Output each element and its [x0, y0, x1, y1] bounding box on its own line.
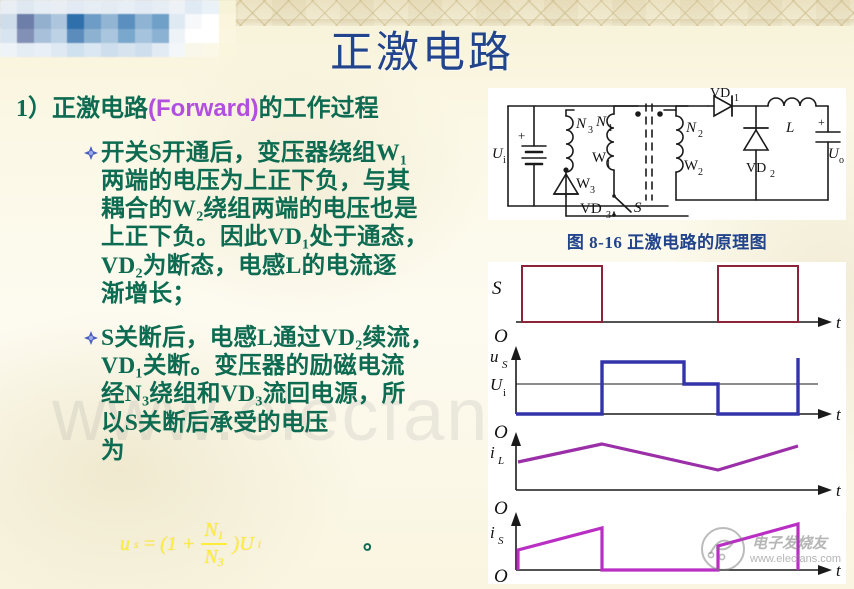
heading-part-3: 的工作过程: [259, 96, 379, 122]
page-title: 正激电路: [330, 18, 514, 80]
formula-close: )U: [233, 533, 254, 556]
label-w3-sub: 3: [590, 185, 595, 196]
mosaic-tile: [185, 43, 202, 57]
label-vd2-sub: 2: [770, 169, 775, 180]
mosaic-tile: [51, 0, 68, 14]
waveform-il-origin: O: [494, 498, 508, 519]
mosaic-tile: [67, 43, 84, 57]
formula-equals: =: [143, 533, 157, 556]
waveform-s-label: S: [492, 278, 502, 299]
mosaic-tile: [101, 0, 118, 14]
body-text-column: 1）正激电路(Forward)的工作过程 开关S开通后，变压器绕组W₁ 两端的电…: [16, 96, 486, 465]
label-vd1-sub: 1: [734, 93, 739, 104]
mosaic-tile: [84, 43, 101, 57]
mosaic-tile: [34, 0, 51, 14]
mosaic-tile: [17, 43, 34, 57]
label-n1: N: [595, 114, 607, 130]
formula-lhs: u: [120, 533, 130, 556]
mosaic-tile: [152, 43, 169, 57]
bullet-2-line-1: S关断后，电感L通过VD₂续流，: [101, 324, 434, 352]
mosaic-tile: [34, 29, 51, 43]
mosaic-tile: [67, 14, 84, 28]
label-output-plus: +: [818, 115, 825, 129]
waveform-il-label: i: [490, 443, 495, 462]
waveform-is: i S O t: [490, 512, 842, 584]
bullet-1-text: 开关S开通后，变压器绕组W₁ 两端的电压为上正下负，与其 耦合的W₂绕组两端的电…: [101, 139, 429, 308]
waveform-us-xlabel: t: [836, 405, 842, 424]
label-inductor-l: L: [785, 120, 794, 136]
mosaic-tile: [135, 29, 152, 43]
bullet-1-line-2: 两端的电压为上正下负，与其: [101, 167, 429, 195]
mosaic-tile: [219, 14, 236, 28]
formula-close-sub: i: [258, 537, 261, 552]
bullet-1-line-5: VD₂为断态，电感L的电流逐: [101, 252, 429, 280]
mosaic-tile: [84, 14, 101, 28]
mosaic-tile: [185, 14, 202, 28]
mosaic-tile: [219, 0, 236, 14]
heading-part-1: 1）正激电路: [16, 96, 148, 122]
bullet-1-line-3: 耦合的W₂绕组两端的电压也是: [101, 195, 429, 223]
waveform-us: u S U i O t: [490, 346, 842, 443]
mosaic-tile: [67, 29, 84, 43]
label-switch-s: S: [634, 200, 642, 216]
label-n3: N: [575, 116, 587, 132]
mosaic-tile: [135, 0, 152, 14]
waveform-s-origin: O: [494, 326, 508, 347]
label-w2-sub: 2: [698, 167, 703, 178]
mosaic-tile: [169, 0, 186, 14]
waveform-is-origin: O: [494, 566, 508, 584]
label-w2: W: [684, 158, 699, 174]
mosaic-tile: [101, 14, 118, 28]
mosaic-tile: [67, 0, 84, 14]
waveform-us-sub: S: [502, 359, 508, 371]
mosaic-tile: [169, 14, 186, 28]
mosaic-tile: [135, 14, 152, 28]
formula-fraction: N1 N3: [201, 520, 226, 568]
label-input-plus: +: [518, 128, 525, 143]
slide-canvas: 正激电路 www.elecfans.com 1）正激电路(Forward)的工作…: [0, 0, 854, 589]
mosaic-tile: [101, 29, 118, 43]
mosaic-tile: [152, 14, 169, 28]
waveform-us-origin: O: [494, 422, 508, 443]
heading-level1: 1）正激电路(Forward)的工作过程: [16, 96, 486, 123]
waveform-il-sub: L: [497, 455, 504, 467]
mosaic-tile: [202, 0, 219, 14]
waveform-il: i L O t: [490, 432, 842, 519]
censored-mosaic-block: [0, 0, 236, 57]
mosaic-tile: [0, 43, 17, 57]
mosaic-tile: [17, 29, 34, 43]
label-uo-sub: o: [839, 155, 844, 166]
waveform-s-xlabel: t: [836, 313, 842, 332]
mosaic-tile: [17, 14, 34, 28]
bullet-2-line-3: 经N₃绕组和VD₃流回电源，所: [101, 380, 434, 408]
label-vd3: VD: [580, 201, 602, 217]
figure-caption: 图 8-16 正激电路的原理图: [488, 228, 846, 253]
waveform-diagram-panel: S O t u S U i O t: [488, 262, 846, 584]
label-vd2: VD: [746, 161, 766, 176]
bullet-2-line-2: VD₁关断。变压器的励磁电流: [101, 352, 434, 380]
formula-open: (1 +: [160, 533, 195, 556]
waveform-s: S O t: [492, 266, 842, 347]
mosaic-tile: [51, 43, 68, 57]
waveform-is-label: i: [490, 523, 495, 542]
mosaic-tile: [202, 29, 219, 43]
mosaic-tile: [169, 43, 186, 57]
label-w1-sub: 1: [606, 159, 611, 170]
mosaic-tile: [219, 29, 236, 43]
label-n2-sub: 2: [698, 129, 703, 140]
mosaic-tile: [185, 29, 202, 43]
mosaic-tile: [101, 43, 118, 57]
mosaic-tile: [84, 0, 101, 14]
bullet-item-1: 开关S开通后，变压器绕组W₁ 两端的电压为上正下负，与其 耦合的W₂绕组两端的电…: [16, 139, 486, 308]
waveform-us-label: u: [490, 347, 499, 366]
bullet-1-line-4: 上正下负。因此VD₁处于通态，: [101, 223, 429, 251]
mosaic-tile: [135, 43, 152, 57]
mosaic-tile: [219, 43, 236, 57]
mosaic-tile: [152, 0, 169, 14]
label-n2: N: [685, 120, 697, 136]
bullet-2-text: S关断后，电感L通过VD₂续流， VD₁关断。变压器的励磁电流 经N₃绕组和VD…: [101, 324, 434, 465]
mosaic-tile: [51, 14, 68, 28]
waveform-is-xlabel: t: [836, 561, 842, 580]
mosaic-tile: [202, 14, 219, 28]
mosaic-tile: [185, 0, 202, 14]
mosaic-tile: [84, 29, 101, 43]
waveform-il-xlabel: t: [836, 481, 842, 500]
diamond-bullet-icon: [84, 146, 98, 160]
waveform-ui-level-label: U: [490, 375, 504, 394]
label-w1: W: [592, 150, 607, 166]
voltage-formula: us = (1 + N1 N3 )Ui: [120, 520, 261, 568]
bullet-1-line-1: 开关S开通后，变压器绕组W₁: [101, 139, 429, 167]
mosaic-tile: [34, 43, 51, 57]
label-vd1: VD: [710, 88, 730, 101]
bullet-item-2: S关断后，电感L通过VD₂续流， VD₁关断。变压器的励磁电流 经N₃绕组和VD…: [16, 324, 486, 465]
formula-denominator: N3: [201, 547, 226, 568]
label-w3: W: [576, 176, 591, 192]
mosaic-tile: [118, 0, 135, 14]
mosaic-tile: [0, 29, 17, 43]
bullet-2-line-5: 为: [101, 437, 434, 465]
waveform-ui-level-sub: i: [503, 387, 506, 399]
waveform-is-sub: S: [498, 535, 504, 547]
mosaic-tile: [0, 0, 17, 14]
diamond-bullet-icon: [84, 331, 98, 345]
mosaic-tile: [152, 29, 169, 43]
mosaic-tile: [202, 43, 219, 57]
formula-fraction-bar: [201, 543, 226, 545]
heading-part-forward: (Forward): [148, 95, 259, 122]
circuit-diagram-panel: U i + N 3 N 1 W 1 W 3 VD 3 S N 2 W 2 VD: [488, 88, 846, 220]
label-vd3-sub: 3: [606, 210, 611, 220]
label-n3-sub: 3: [588, 125, 593, 136]
mosaic-tile: [17, 0, 34, 14]
bullet-1-line-6: 渐增长；: [101, 280, 429, 308]
mosaic-tile: [0, 14, 17, 28]
mosaic-tile: [118, 29, 135, 43]
bullet-2-line-4: 以S关断后承受的电压: [101, 409, 434, 437]
formula-trailing-period: 。: [363, 524, 385, 556]
formula-numerator: N1: [201, 520, 226, 541]
label-n1-sub: 1: [608, 123, 613, 134]
mosaic-tile: [118, 14, 135, 28]
mosaic-tile: [169, 29, 186, 43]
label-ui-sub: i: [503, 155, 506, 166]
formula-lhs-sub: s: [134, 537, 139, 552]
mosaic-tile: [34, 14, 51, 28]
mosaic-tile: [51, 29, 68, 43]
mosaic-tile: [118, 43, 135, 57]
